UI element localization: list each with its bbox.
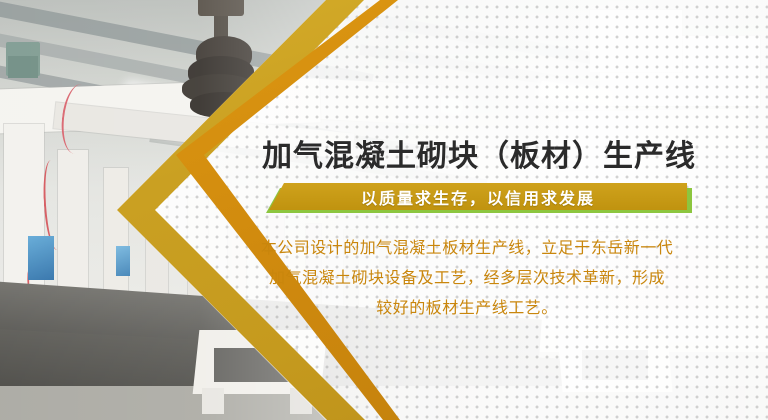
- banner-subtitle-text: 以质量求生存，以信用求发展: [266, 183, 690, 210]
- description-line-2: 加气混凝土砌块设备及工艺，经多层次技术革新，形成: [228, 264, 706, 294]
- banner-description: 本公司设计的加气混凝土板材生产线，立足于东岳新一代 加气混凝土砌块设备及工艺，经…: [228, 234, 706, 324]
- banner-content: 加气混凝土砌块（板材）生产线 以质量求生存，以信用求发展 本公司设计的加气混凝土…: [0, 0, 768, 420]
- banner-subtitle-banner: 以质量求生存，以信用求发展: [266, 183, 696, 213]
- banner-title: 加气混凝土砌块（板材）生产线: [262, 131, 702, 175]
- product-banner: 加气混凝土砌块（板材）生产线 以质量求生存，以信用求发展 本公司设计的加气混凝土…: [0, 0, 768, 420]
- description-line-3: 较好的板材生产线工艺。: [228, 294, 706, 324]
- description-line-1: 本公司设计的加气混凝土板材生产线，立足于东岳新一代: [228, 234, 706, 264]
